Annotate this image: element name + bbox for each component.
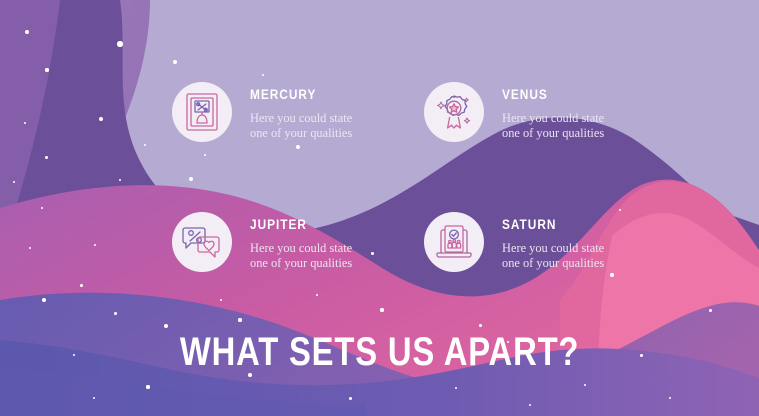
feature-item-mercury[interactable]: MERCURY Here you could state one of your…	[172, 82, 352, 142]
laptop-checkmark-review-icon	[424, 212, 484, 272]
slide-heading: WHAT SETS US APART?	[0, 330, 759, 374]
slide-heading-text: WHAT SETS US APART?	[180, 330, 579, 374]
feature-title-venus: VENUS	[502, 88, 592, 102]
feature-desc-saturn-line2: one of your qualities	[502, 256, 604, 272]
feature-desc-jupiter-line2: one of your qualities	[250, 256, 352, 272]
feature-item-saturn[interactable]: SATURN Here you could state one of your …	[424, 212, 604, 272]
feature-text-saturn: SATURN Here you could state one of your …	[502, 212, 604, 272]
feature-title-saturn: SATURN	[502, 218, 592, 232]
feature-desc-mercury-line1: Here you could state	[250, 111, 352, 127]
feature-text-mercury: MERCURY Here you could state one of your…	[250, 82, 352, 142]
feature-item-venus[interactable]: VENUS Here you could state one of your q…	[424, 82, 604, 142]
feature-desc-mercury-line2: one of your qualities	[250, 126, 352, 142]
feature-text-venus: VENUS Here you could state one of your q…	[502, 82, 604, 142]
feature-item-jupiter[interactable]: JUPITER Here you could state one of your…	[172, 212, 352, 272]
chat-bubbles-percent-heart-icon	[172, 212, 232, 272]
feature-text-jupiter: JUPITER Here you could state one of your…	[250, 212, 352, 272]
award-rosette-icon	[424, 82, 484, 142]
framed-certificate-icon	[172, 82, 232, 142]
feature-desc-venus-line1: Here you could state	[502, 111, 604, 127]
feature-desc-venus-line2: one of your qualities	[502, 126, 604, 142]
feature-title-mercury: MERCURY	[250, 88, 340, 102]
feature-desc-jupiter-line1: Here you could state	[250, 241, 352, 257]
feature-desc-saturn-line1: Here you could state	[502, 241, 604, 257]
feature-title-jupiter: JUPITER	[250, 218, 340, 232]
slide-canvas: MERCURY Here you could state one of your…	[0, 0, 759, 416]
